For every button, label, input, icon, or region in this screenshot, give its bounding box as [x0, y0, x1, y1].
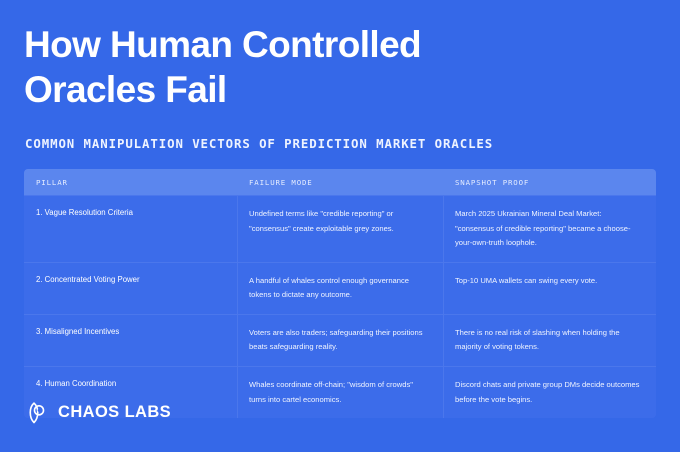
cell-failure-mode: Whales coordinate off-chain; "wisdom of … [237, 367, 443, 418]
chaos-labs-logo-icon [24, 400, 49, 425]
cell-failure-mode: Voters are also traders; safeguarding th… [237, 315, 443, 366]
title-block: How Human Controlled Oracles Fail [24, 22, 584, 112]
page-subtitle: COMMON MANIPULATION VECTORS OF PREDICTIO… [25, 136, 493, 151]
column-header-failure-mode: FAILURE MODE [237, 178, 443, 187]
page-title: How Human Controlled Oracles Fail [24, 22, 584, 112]
footer-brand: CHAOS LABS [24, 400, 171, 425]
cell-pillar: 2. Concentrated Voting Power [24, 263, 237, 314]
cell-snapshot-proof: March 2025 Ukrainian Mineral Deal Market… [443, 196, 656, 262]
cell-snapshot-proof: There is no real risk of slashing when h… [443, 315, 656, 366]
table-row: 3. Misaligned Incentives Voters are also… [24, 314, 656, 366]
table-row: 1. Vague Resolution Criteria Undefined t… [24, 195, 656, 262]
cell-failure-mode: Undefined terms like "credible reporting… [237, 196, 443, 262]
cell-failure-mode: A handful of whales control enough gover… [237, 263, 443, 314]
manipulation-vectors-table: PILLAR FAILURE MODE SNAPSHOT PROOF 1. Va… [24, 169, 656, 418]
brand-name: CHAOS LABS [58, 403, 171, 422]
table-row: 2. Concentrated Voting Power A handful o… [24, 262, 656, 314]
column-header-snapshot-proof: SNAPSHOT PROOF [443, 178, 656, 187]
column-header-pillar: PILLAR [24, 178, 237, 187]
slide-root: How Human Controlled Oracles Fail COMMON… [0, 0, 680, 452]
cell-pillar: 1. Vague Resolution Criteria [24, 196, 237, 262]
table-header-row: PILLAR FAILURE MODE SNAPSHOT PROOF [24, 169, 656, 195]
cell-snapshot-proof: Top-10 UMA wallets can swing every vote. [443, 263, 656, 314]
cell-pillar: 3. Misaligned Incentives [24, 315, 237, 366]
cell-snapshot-proof: Discord chats and private group DMs deci… [443, 367, 656, 418]
